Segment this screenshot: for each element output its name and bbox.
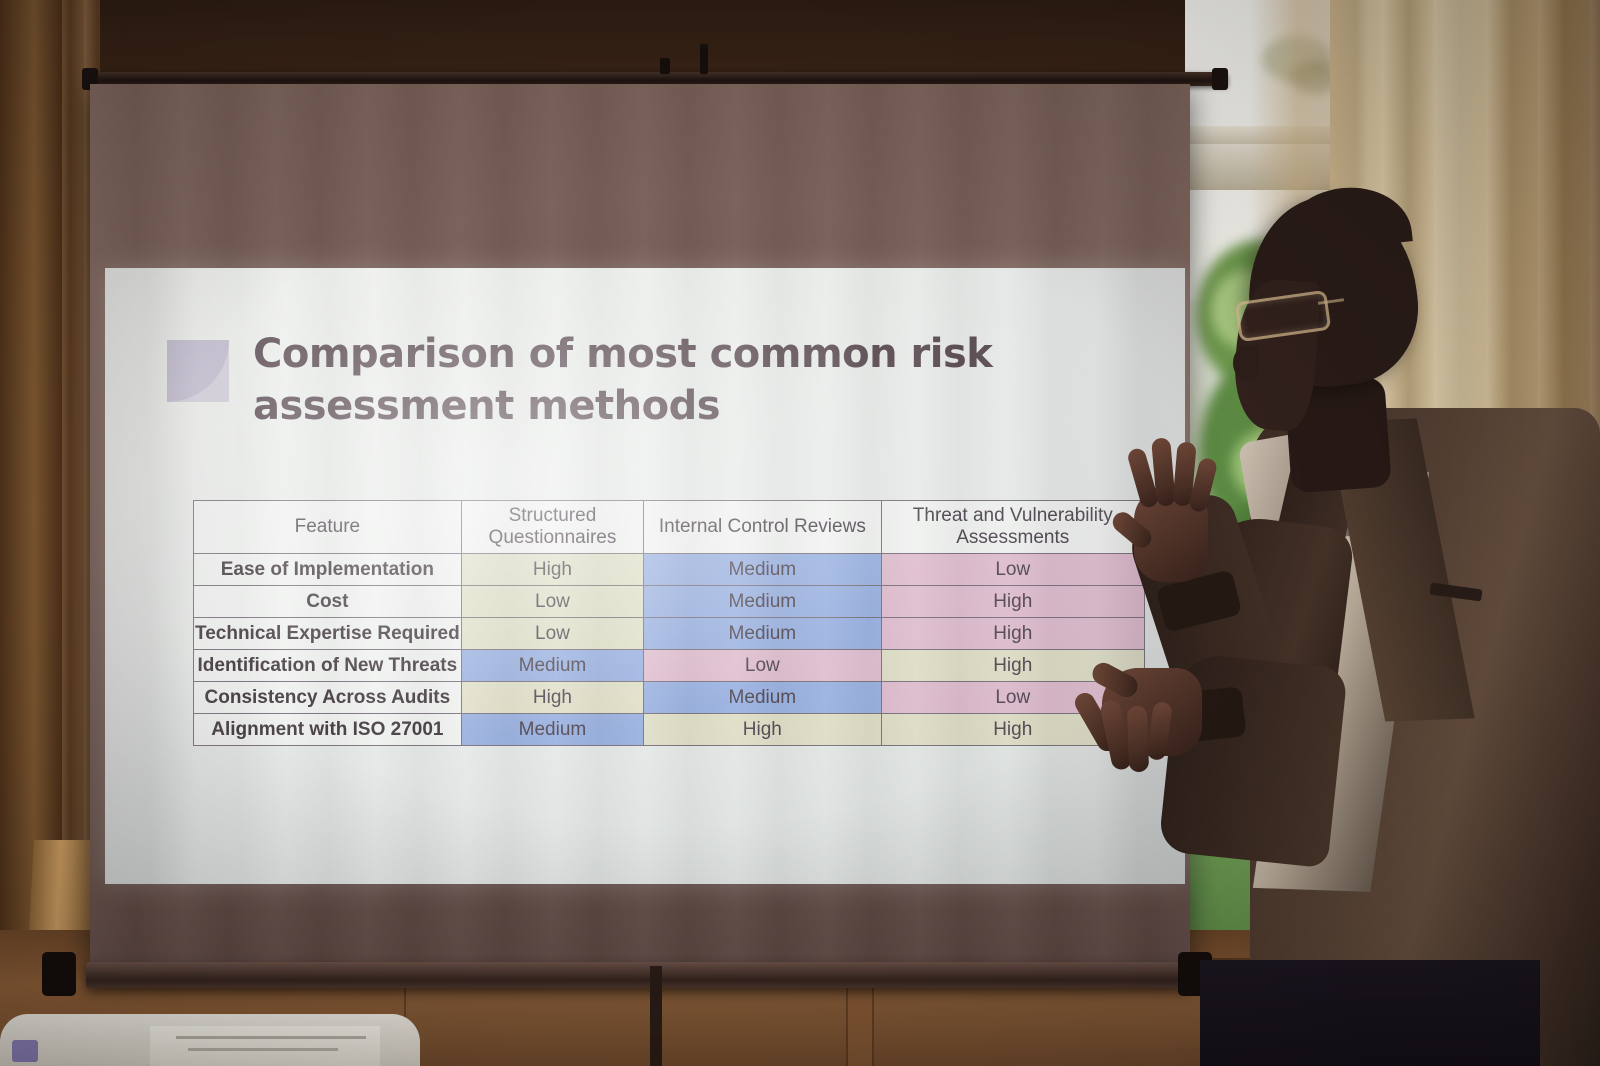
cell-value: High [644,714,881,746]
row-label: Cost [194,586,462,618]
table-row: Identification of New Threats Medium Low… [194,650,1145,682]
paper-text-line [188,1048,338,1051]
slide-title: Comparison of most common risk assessmen… [253,328,1013,432]
quarter-circle-icon [167,340,229,402]
paper-text-line [176,1036,366,1039]
cell-value: High [461,682,643,714]
small-object [12,1040,38,1062]
presenter-nose [1233,346,1259,380]
cell-value: High [881,618,1145,650]
cell-value: Medium [461,714,643,746]
column-header-feature: Feature [194,501,462,554]
ceiling-bracket [700,44,708,74]
cell-value: Medium [644,586,881,618]
row-label: Technical Expertise Required [194,618,462,650]
table-row: Cost Low Medium High [194,586,1145,618]
ceiling-bracket [660,58,670,74]
column-header-internal-control-reviews: Internal Control Reviews [644,501,881,554]
projected-slide: Comparison of most common risk assessmen… [105,268,1185,884]
cell-value: Medium [644,682,881,714]
cell-value: Medium [644,554,881,586]
cell-value: Low [881,554,1145,586]
column-header-structured-questionnaires: Structured Questionnaires [461,501,643,554]
cell-value: Low [461,618,643,650]
presenter-legs [1200,960,1540,1066]
risk-assessment-comparison-table: Feature Structured Questionnaires Intern… [193,500,1145,746]
cell-value: Medium [461,650,643,682]
table-row: Technical Expertise Required Low Medium … [194,618,1145,650]
row-label: Identification of New Threats [194,650,462,682]
cell-value: Medium [644,618,881,650]
table-header-row: Feature Structured Questionnaires Intern… [194,501,1145,554]
screen-weight-bar [86,962,1192,988]
papers-on-table [150,1026,380,1066]
row-label: Ease of Implementation [194,554,462,586]
cell-value: High [881,586,1145,618]
row-label: Consistency Across Audits [194,682,462,714]
column-header-threat-vulnerability-assessments: Threat and Vulnerability Assessments [881,501,1145,554]
table-row: Ease of Implementation High Medium Low [194,554,1145,586]
rod-cap-right [1212,68,1228,90]
cell-value: Low [644,650,881,682]
presentation-scene: Comparison of most common risk assessmen… [0,0,1600,1066]
table-row: Alignment with ISO 27001 Medium High Hig… [194,714,1145,746]
row-label: Alignment with ISO 27001 [194,714,462,746]
table-row: Consistency Across Audits High Medium Lo… [194,682,1145,714]
screen-support-pole [650,966,662,1066]
cell-value: Low [461,586,643,618]
screen-bar-endcap-left [42,952,76,996]
cell-value: High [461,554,643,586]
